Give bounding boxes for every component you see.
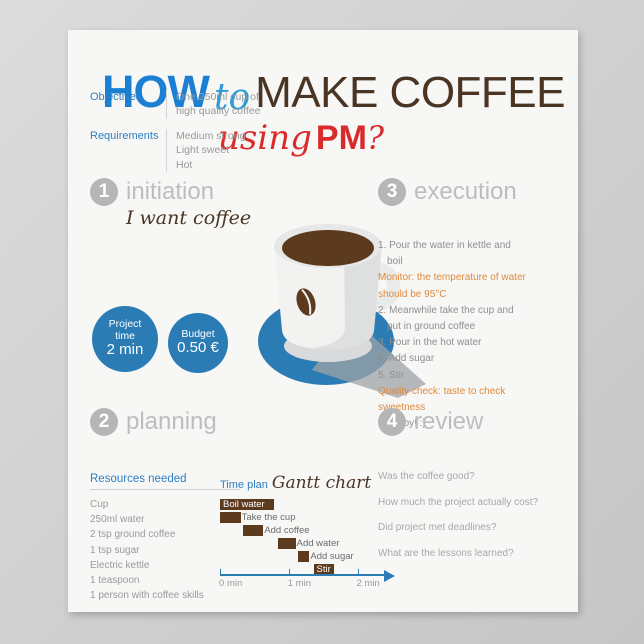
requirements-value-line: Hot [176,158,245,172]
execution-step: 1. Pour the water in kettle and [378,238,568,254]
gantt-bar-label: Boil water [223,499,265,510]
budget-circle: Budget 0.50 € [168,313,228,373]
list-item: Electric kettle [90,558,240,573]
resources-title: Resources needed [90,473,240,490]
objectives-value-line: One 250ml cup of [176,90,260,104]
execution-step: 3. Pour in the hot water [378,335,568,351]
gantt-chart-label: Gantt chart [272,473,371,493]
gantt-bar-label: Add coffee [264,525,309,536]
axis-tick [289,569,290,574]
section-title-planning: planning [126,408,217,436]
axis-tick-label: 1 min [288,578,311,589]
requirements-value-line: Light sweet [176,143,245,157]
resources-list: Cup 250ml water 2 tsp ground coffee 1 ts… [90,497,240,603]
title-pm: PM [316,119,367,157]
gantt-bar [243,525,264,536]
gantt-bar [298,551,310,562]
section-badge-3: 3 [378,178,406,206]
execution-note: Monitor: the temperature of water [378,270,568,286]
section-badge-4: 4 [378,408,406,436]
execution-steps-list: 1. Pour the water in kettle and boil Mon… [378,238,568,432]
execution-note: Quality check: taste to check [378,384,568,400]
gantt-axis: 0 min1 min2 min [220,569,400,591]
gantt-bar-label: Add water [297,538,340,549]
table-row: Objectives One 250ml cup of high quality… [90,90,280,119]
review-question: What are the lessons learned? [378,547,573,562]
section-header-planning: 2 planning [90,408,217,436]
gantt-bar-label: Take the cup [242,512,296,523]
project-time-circle: Project time 2 min [92,306,158,372]
gantt-bar [220,512,241,523]
review-question: Did project met deadlines? [378,521,573,536]
execution-step-cont: put in ground coffee [378,319,568,335]
table-row: Requirements Medium strong Light sweet H… [90,129,280,172]
list-item: Cup [90,497,240,512]
section-title-review: review [414,408,483,436]
project-time-label-1: Project [109,319,142,331]
review-questions: Was the coffee good? How much the projec… [378,470,573,572]
list-item: 1 tsp sugar [90,543,240,558]
execution-note: should be 95°C [378,287,568,303]
axis-tick-label: 2 min [357,578,380,589]
section-header-execution: 3 execution [378,178,517,206]
title-question-mark: ? [367,119,384,157]
gantt-bar-label: Add sugar [310,551,353,562]
initiation-table: Objectives One 250ml cup of high quality… [90,90,280,182]
poster-sheet: HOWtoMAKE COFFEE usingPM? 1 initiation I… [68,30,578,612]
axis-tick [358,569,359,574]
list-item: 1 teaspoon [90,573,240,588]
screenshot-stage: HOWtoMAKE COFFEE usingPM? 1 initiation I… [0,0,644,644]
resources-panel: Resources needed Cup 250ml water 2 tsp g… [90,473,240,603]
objectives-label: Objectives [90,90,166,119]
gantt-bar [278,538,296,549]
budget-value: 0.50 € [177,340,219,357]
initiation-subtitle: I want coffee [126,207,251,229]
execution-step: 5. Stir [378,368,568,384]
project-time-value: 2 min [107,342,144,359]
objectives-value-line: high quality coffee [176,104,260,118]
axis-line [220,574,385,576]
execution-step: 4. Add sugar [378,351,568,367]
section-header-review: 4 review [378,408,483,436]
objectives-values: One 250ml cup of high quality coffee [166,90,260,119]
execution-step-cont: boil [378,254,568,270]
time-plan-label: Time plan [220,479,268,491]
list-item: 2 tsp ground coffee [90,527,240,542]
axis-tick-label: 0 min [219,578,242,589]
list-item: 1 person with coffee skills [90,588,240,603]
review-question: Was the coffee good? [378,470,573,485]
requirements-label: Requirements [90,129,166,172]
requirements-values: Medium strong Light sweet Hot [166,129,245,172]
coffee-surface [282,230,374,266]
requirements-value-line: Medium strong [176,129,245,143]
section-badge-2: 2 [90,408,118,436]
review-question: How much the project actually cost? [378,496,573,511]
title-make-coffee: MAKE COFFEE [255,68,565,117]
execution-step: 2. Meanwhile take the cup and [378,303,568,319]
axis-tick [220,569,221,574]
list-item: 250ml water [90,512,240,527]
section-title-execution: execution [414,178,517,206]
